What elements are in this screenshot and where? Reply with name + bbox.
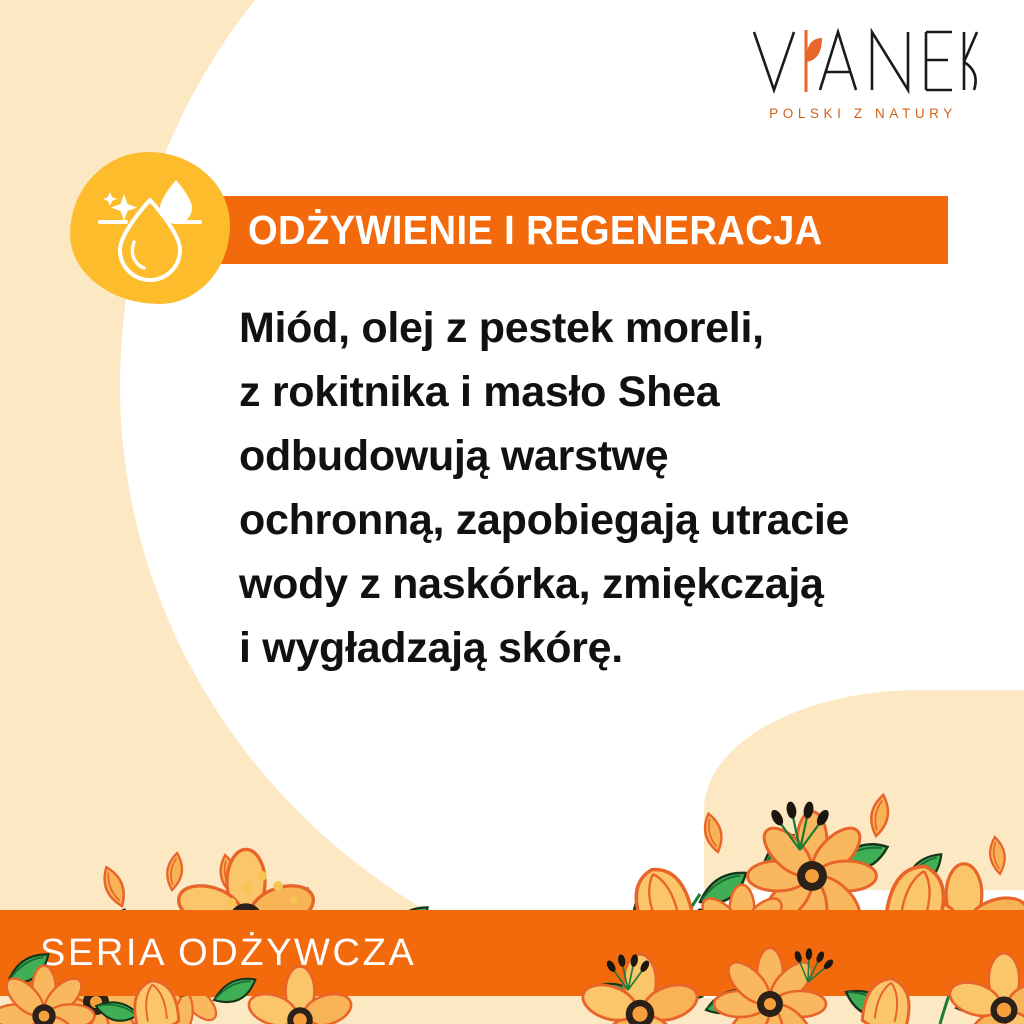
body-copy: Miód, olej z pestek moreli, z rokitnika … bbox=[239, 296, 969, 680]
sparkle-small-icon bbox=[103, 192, 117, 206]
logo-wordmark-vianek bbox=[748, 26, 978, 98]
logo-leaf-accent-icon bbox=[806, 30, 822, 92]
small-droplet-icon bbox=[160, 180, 192, 224]
body-line: Miód, olej z pestek moreli, bbox=[239, 296, 969, 360]
hydration-badge bbox=[70, 152, 230, 304]
body-line: odbudowują warstwę bbox=[239, 424, 969, 488]
logo-tagline: POLSKI Z NATURY bbox=[738, 106, 988, 121]
brand-logo: POLSKI Z NATURY bbox=[738, 26, 988, 121]
headline-text: ODŻYWIENIE I REGENERACJA bbox=[248, 210, 823, 251]
headline-banner: ODŻYWIENIE I REGENERACJA bbox=[196, 196, 948, 264]
footer-text: SERIA ODŻYWCZA bbox=[40, 934, 416, 972]
body-line: z rokitnika i masło Shea bbox=[239, 360, 969, 424]
water-drop-hydration-icon bbox=[90, 170, 210, 286]
body-line: wody z naskórka, zmiękczają bbox=[239, 552, 969, 616]
body-line: ochronną, zapobiegają utracie bbox=[239, 488, 969, 552]
footer-banner: SERIA ODŻYWCZA bbox=[0, 910, 1024, 996]
poster: POLSKI Z NATURY ODŻYWIENIE I REGENERACJA… bbox=[0, 0, 1024, 1024]
sparkle-icon bbox=[111, 194, 137, 221]
body-line: i wygładzają skórę. bbox=[239, 616, 969, 680]
